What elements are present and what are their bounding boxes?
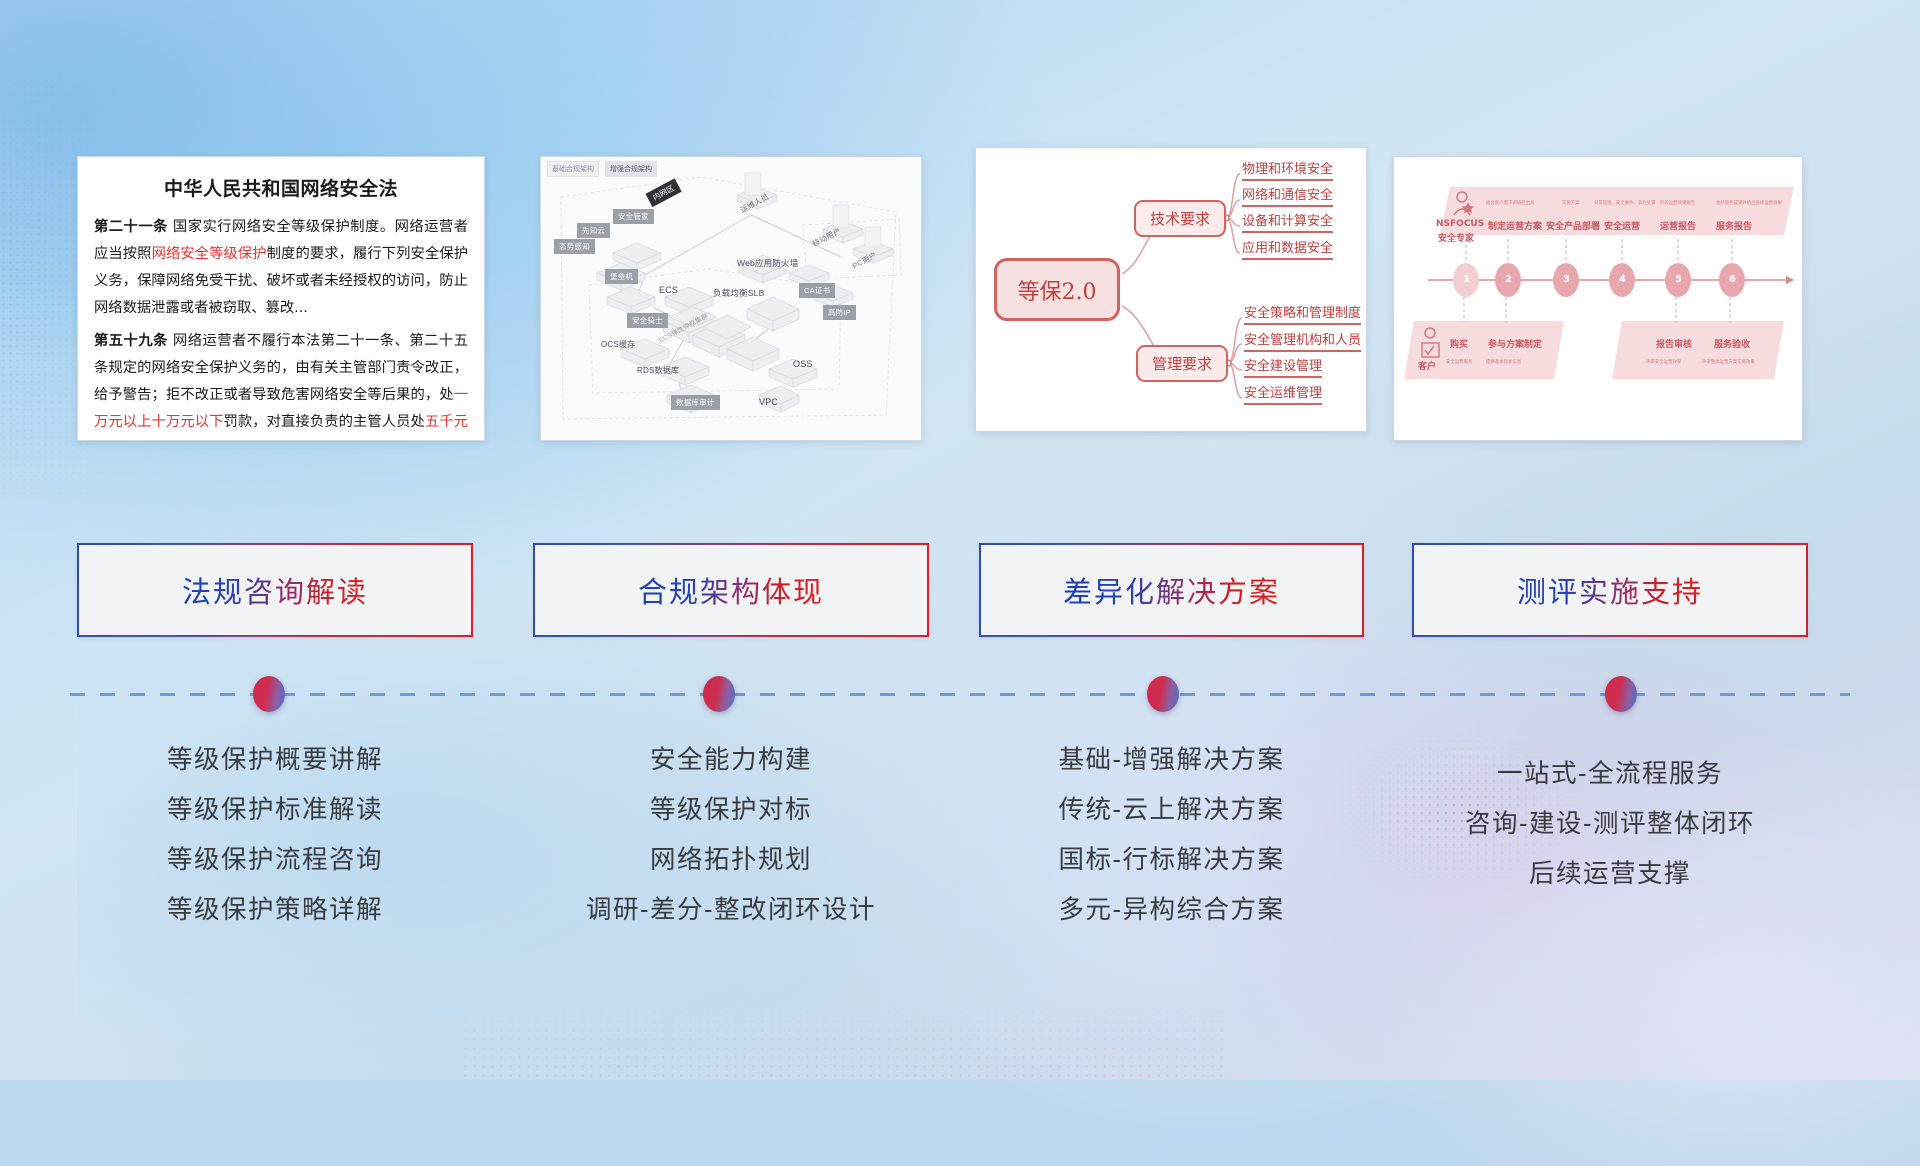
arch-node-rds-db: RDS数据库 bbox=[637, 365, 679, 376]
list-item: 等级保护概要讲解 bbox=[77, 735, 473, 785]
timeline-vendor-label: NSFOCUS bbox=[1436, 219, 1484, 229]
card-nsfocus-service-timeline[interactable]: NSFOCUS 安全专家 客户 结合客户需求调研后出具 制定运营方案 实施方案 … bbox=[1393, 156, 1803, 441]
arch-node-db-audit: 数据库审计 bbox=[671, 395, 720, 410]
law-article-59-label: 第五十九条 bbox=[94, 333, 168, 349]
architecture-tab-enhanced[interactable]: 增强合规架构 bbox=[605, 161, 657, 177]
category-button-compliance-architecture[interactable]: 合规架构体现 bbox=[533, 543, 929, 637]
category-button-row: 法规咨询解读 合规架构体现 差异化解决方案 测评实施支持 bbox=[0, 543, 1920, 645]
timeline-marker-3[interactable] bbox=[1147, 676, 1179, 712]
timeline-step-number-5: 5 bbox=[1675, 274, 1682, 285]
arch-node-ocs-cache: OCS缓存 bbox=[601, 339, 635, 350]
list-item: 网络拓扑规划 bbox=[533, 835, 929, 885]
law-title: 中华人民共和国网络安全法 bbox=[94, 174, 468, 201]
cloud-architecture-diagram: 基础合规架构 增强合规架构 内网区 安全管家 先知云 态势感知 堡垒机 运维人员… bbox=[541, 157, 921, 440]
mindmap-leaf-policy-system: 安全策略和管理制度 bbox=[1244, 302, 1361, 325]
timeline-bottom-sub-1: 安全运营服务 bbox=[1446, 359, 1472, 365]
mindmap-leaf-app-data: 应用和数据安全 bbox=[1242, 237, 1333, 260]
timeline-bottom-sub-3: 评审安全运营效果 bbox=[1646, 359, 1681, 365]
card-dengbao-mindmap[interactable]: 等保2.0 技术要求 物理和环境安全 网络和通信安全 设备和计算安全 应用和数据… bbox=[975, 147, 1367, 432]
slide-stage: 中华人民共和国网络安全法 第二十一条 国家实行网络安全等级保护制度。网络运营者应… bbox=[0, 0, 1920, 1080]
card-cybersecurity-law[interactable]: 中华人民共和国网络安全法 第二十一条 国家实行网络安全等级保护制度。网络运营者应… bbox=[77, 156, 485, 441]
list-item: 一站式-全流程服务 bbox=[1412, 749, 1808, 799]
timeline-top-title-5: 服务报告 bbox=[1716, 219, 1752, 232]
timeline-top-sub-2: 实施方案 bbox=[1562, 200, 1580, 206]
category-button-assessment-support[interactable]: 测评实施支持 bbox=[1412, 543, 1808, 637]
arch-node-waf: Web应用防火墙 bbox=[737, 257, 798, 269]
list-item: 等级保护策略详解 bbox=[77, 885, 473, 935]
card-compliance-architecture[interactable]: 基础合规架构 增强合规架构 内网区 安全管家 先知云 态势感知 堡垒机 运维人员… bbox=[540, 156, 922, 441]
timeline-marker-2[interactable] bbox=[703, 676, 735, 712]
architecture-tab-group[interactable]: 基础合规架构 增强合规架构 bbox=[547, 161, 657, 177]
mindmap-leaf-org-personnel: 安全管理机构和人员 bbox=[1244, 329, 1361, 352]
mindmap-branch-technical: 技术要求 bbox=[1134, 200, 1226, 237]
timeline-customer-label: 客户 bbox=[1418, 359, 1436, 372]
detail-list-column-4: 一站式-全流程服务 咨询-建设-测评整体闭环 后续运营支撑 bbox=[1412, 749, 1808, 899]
list-item: 咨询-建设-测评整体闭环 bbox=[1412, 799, 1808, 849]
law-article-21-highlight: 网络安全等级保护 bbox=[152, 246, 267, 262]
timeline-bottom-sub-4: 评审整体运营方案实施效果 bbox=[1702, 359, 1755, 365]
timeline-top-sub-1: 结合客户需求调研后出具 bbox=[1486, 200, 1534, 206]
law-article-59: 第五十九条 网络运营者不履行本法第二十一条、第二十五条规定的网络安全保护义务的，… bbox=[94, 328, 468, 441]
list-item: 基础-增强解决方案 bbox=[979, 735, 1364, 785]
service-timeline-diagram: NSFOCUS 安全专家 客户 结合客户需求调研后出具 制定运营方案 实施方案 … bbox=[1394, 157, 1802, 440]
mindmap-leaf-network-comm: 网络和通信安全 bbox=[1242, 184, 1333, 207]
arch-node-ecs: ECS bbox=[659, 285, 678, 295]
timeline-top-sub-3: 日常巡检、安全事件、高危处置 bbox=[1594, 200, 1655, 206]
timeline-bottom-title-1: 购买 bbox=[1450, 337, 1468, 350]
category-button-regulation-consulting[interactable]: 法规咨询解读 bbox=[77, 543, 473, 637]
timeline-top-sub-5: 总结服务成果并给出后续运营效果 bbox=[1716, 200, 1782, 206]
arch-node-slb: 负载均衡SLB bbox=[713, 287, 764, 299]
category-label-3: 差异化解决方案 bbox=[1063, 569, 1280, 611]
timeline-top-sub-4: 阶段运营效果报告 bbox=[1660, 200, 1695, 206]
law-article-21: 第二十一条 国家实行网络安全等级保护制度。网络运营者应当按照网络安全等级保护制度… bbox=[94, 214, 468, 322]
arch-node-security-knight: 安全骑士 bbox=[627, 313, 668, 328]
arch-node-xianzhi-cloud: 先知云 bbox=[577, 223, 610, 238]
detail-list-row: 等级保护概要讲解 等级保护标准解读 等级保护流程咨询 等级保护策略详解 安全能力… bbox=[0, 735, 1920, 1035]
timeline-bottom-title-4: 服务验收 bbox=[1714, 337, 1750, 350]
arch-node-anti-ddos-ip: 高防IP bbox=[823, 305, 856, 320]
mindmap-leaf-ops-mgmt: 安全运维管理 bbox=[1244, 382, 1322, 405]
list-item: 等级保护标准解读 bbox=[77, 785, 473, 835]
detail-list-column-2: 安全能力构建 等级保护对标 网络拓扑规划 调研-差分-整改闭环设计 bbox=[533, 735, 929, 935]
arch-node-ca-cert: CA证书 bbox=[799, 283, 835, 298]
list-item: 国标-行标解决方案 bbox=[979, 835, 1364, 885]
law-document: 中华人民共和国网络安全法 第二十一条 国家实行网络安全等级保护制度。网络运营者应… bbox=[78, 157, 484, 440]
list-item: 安全能力构建 bbox=[533, 735, 929, 785]
timeline-top-title-4: 运营报告 bbox=[1660, 219, 1696, 232]
arch-node-oss: OSS bbox=[793, 359, 813, 369]
list-item: 等级保护流程咨询 bbox=[77, 835, 473, 885]
timeline-top-title-1: 制定运营方案 bbox=[1488, 219, 1542, 232]
category-label-1: 法规咨询解读 bbox=[182, 569, 368, 611]
timeline-vendor-label-2: 安全专家 bbox=[1438, 231, 1474, 244]
detail-list-column-1: 等级保护概要讲解 等级保护标准解读 等级保护流程咨询 等级保护策略详解 bbox=[77, 735, 473, 935]
timeline-step-number-1: 1 bbox=[1463, 274, 1470, 285]
illustration-card-row: 中华人民共和国网络安全法 第二十一条 国家实行网络安全等级保护制度。网络运营者应… bbox=[0, 0, 1920, 460]
mindmap-diagram: 等保2.0 技术要求 物理和环境安全 网络和通信安全 设备和计算安全 应用和数据… bbox=[976, 148, 1366, 431]
list-item: 传统-云上解决方案 bbox=[979, 785, 1364, 835]
arch-node-bastion-host: 堡垒机 bbox=[605, 269, 638, 284]
timeline-step-number-6: 6 bbox=[1729, 274, 1736, 285]
timeline-marker-1[interactable] bbox=[253, 676, 285, 712]
mindmap-leaf-physical-env: 物理和环境安全 bbox=[1242, 158, 1333, 181]
arch-node-vpc: VPC bbox=[759, 397, 778, 407]
timeline-step-number-2: 2 bbox=[1505, 274, 1512, 285]
mindmap-branch-management: 管理要求 bbox=[1136, 345, 1228, 382]
category-label-2: 合规架构体现 bbox=[638, 569, 824, 611]
architecture-tab-basic[interactable]: 基础合规架构 bbox=[547, 161, 599, 177]
mindmap-root-node: 等保2.0 bbox=[994, 258, 1120, 321]
list-item: 等级保护对标 bbox=[533, 785, 929, 835]
category-label-4: 测评实施支持 bbox=[1517, 569, 1703, 611]
timeline-bottom-title-3: 报告审核 bbox=[1656, 337, 1692, 350]
timeline-step-number-4: 4 bbox=[1619, 274, 1626, 285]
list-item: 多元-异构综合方案 bbox=[979, 885, 1364, 935]
category-button-differentiated-solution[interactable]: 差异化解决方案 bbox=[979, 543, 1364, 637]
timeline-marker-4[interactable] bbox=[1605, 676, 1637, 712]
law-article-59-text-b: 罚款，对直接负责的主管人员处 bbox=[224, 414, 425, 430]
arch-node-security-butler: 安全管家 bbox=[613, 209, 654, 224]
list-item: 后续运营支撑 bbox=[1412, 849, 1808, 899]
arch-node-situational-awareness: 态势感知 bbox=[554, 239, 595, 254]
timeline-top-title-2: 安全产品部署 bbox=[1546, 219, 1600, 232]
mindmap-leaf-construction-mgmt: 安全建设管理 bbox=[1244, 355, 1322, 378]
dashed-timeline-line bbox=[70, 693, 1850, 696]
timeline-top-title-3: 安全运营 bbox=[1604, 219, 1640, 232]
timeline-bottom-title-2: 参与方案制定 bbox=[1488, 337, 1542, 350]
mindmap-leaf-device-compute: 设备和计算安全 bbox=[1242, 210, 1333, 233]
timeline-step-number-3: 3 bbox=[1563, 274, 1570, 285]
timeline-bottom-sub-2: 提供基本现状信息 bbox=[1486, 359, 1521, 365]
detail-list-column-3: 基础-增强解决方案 传统-云上解决方案 国标-行标解决方案 多元-异构综合方案 bbox=[979, 735, 1364, 935]
law-article-21-label: 第二十一条 bbox=[94, 219, 168, 235]
list-item: 调研-差分-整改闭环设计 bbox=[533, 885, 929, 935]
